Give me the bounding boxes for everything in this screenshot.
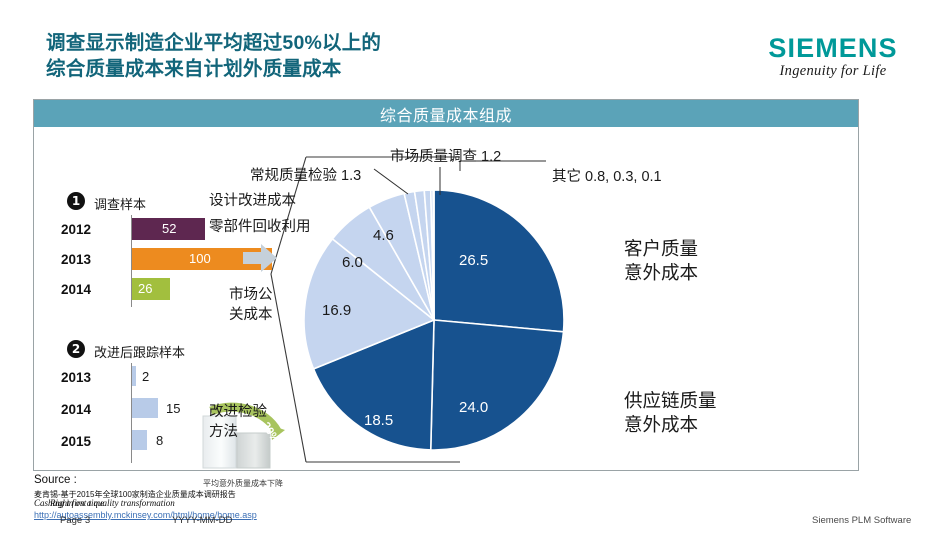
callout-pr-cost-line-2: 关成本 xyxy=(229,305,273,325)
reduction-caption: 平均意外质量成本下降 xyxy=(184,478,302,489)
callout-market-survey: 市场质量调查 1.2 xyxy=(390,147,501,167)
pie-slice xyxy=(431,320,564,450)
date-placeholder: YYYY-MM-DD xyxy=(172,515,232,526)
panel-header: 综合质量成本组成 xyxy=(34,100,858,127)
label-supply-chain-unexpected-cost: 供应链质量 意外成本 xyxy=(624,389,717,437)
callout-other: 其它 0.8, 0.3, 0.1 xyxy=(552,167,662,187)
pie-slice xyxy=(434,190,564,332)
title-line-2: 综合质量成本来自计划外质量成本 xyxy=(46,56,381,82)
pie-slice xyxy=(433,190,434,320)
pie-value-24-0: 24.0 xyxy=(459,399,488,416)
callout-improve-inspection: 改进检验 方法 xyxy=(209,402,267,442)
brand-tagline: Ingenuity for Life xyxy=(738,63,928,80)
pie-value-18-5: 18.5 xyxy=(364,412,393,429)
callout-improve-inspection-line-1: 改进检验 xyxy=(209,402,267,422)
callout-regular-inspection: 常规质量检验 1.3 xyxy=(250,166,361,186)
org-footer: Siemens PLM Software xyxy=(812,515,911,526)
siemens-logo: SIEMENS Ingenuity for Life xyxy=(738,34,928,80)
callout-improve-inspection-line-2: 方法 xyxy=(209,422,267,442)
pie-slices xyxy=(304,190,564,450)
panel-body: 1 调查样本 2012 52 2013 100 2014 26 2 改进后跟踪样… xyxy=(34,127,858,471)
title-line-1: 调查显示制造企业平均超过50%以上的 xyxy=(46,32,381,54)
pie-value-6-0: 6.0 xyxy=(342,254,363,271)
callout-pr-cost: 市场公 关成本 xyxy=(229,285,273,325)
chart-panel: 综合质量成本组成 1 调查样本 2012 52 2013 100 2014 26 xyxy=(33,99,859,471)
callout-design-improve: 设计改进成本 xyxy=(209,191,296,211)
panel-header-label: 综合质量成本组成 xyxy=(380,102,512,126)
source-english-overlay: Right first time xyxy=(50,498,104,508)
label-supply-line-1: 供应链质量 xyxy=(624,389,717,413)
pie-svg xyxy=(34,127,860,471)
callout-pr-cost-line-1: 市场公 xyxy=(229,285,273,305)
label-customer-unexpected-cost: 客户质量 意外成本 xyxy=(624,237,698,285)
page-number: Page 3 xyxy=(60,515,90,526)
label-customer-line-2: 意外成本 xyxy=(624,261,698,285)
pie-value-4-6: 4.6 xyxy=(373,227,394,244)
pie-chart: 26.5 24.0 18.5 16.9 6.0 4.6 常规质量检验 1.3 市… xyxy=(34,127,860,471)
brand-wordmark: SIEMENS xyxy=(738,34,928,62)
pie-value-16-9: 16.9 xyxy=(322,302,351,319)
page-title: 调查显示制造企业平均超过50%以上的 综合质量成本来自计划外质量成本 xyxy=(46,30,381,82)
source-label: Source : xyxy=(34,474,77,486)
label-customer-line-1: 客户质量 xyxy=(624,237,698,261)
pie-value-26-5: 26.5 xyxy=(459,252,488,269)
label-supply-line-2: 意外成本 xyxy=(624,413,717,437)
slide-canvas: 调查显示制造企业平均超过50%以上的 综合质量成本来自计划外质量成本 SIEME… xyxy=(0,0,950,535)
callout-parts-recycle: 零部件回收利用 xyxy=(209,217,311,237)
